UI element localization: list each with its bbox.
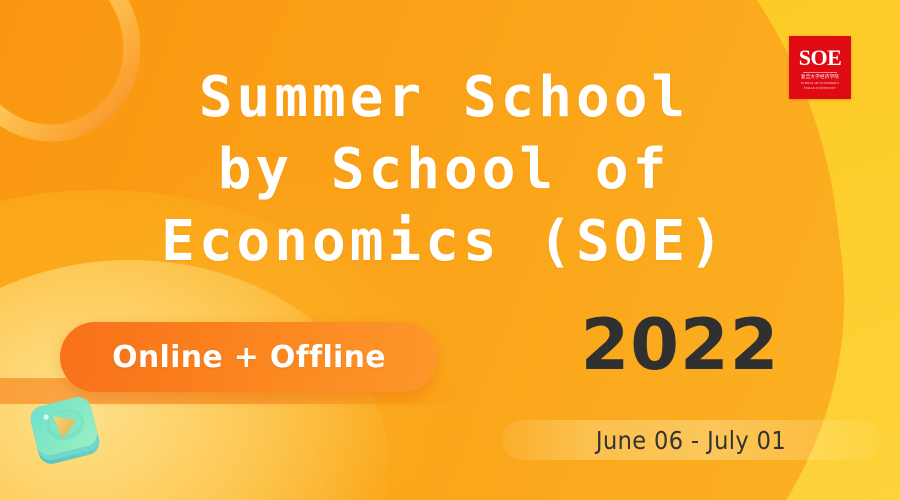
play-cube-icon <box>26 392 104 470</box>
date-range-label: June 06 - July 01 <box>502 420 880 460</box>
format-badge: Online + Offline <box>60 322 438 392</box>
summer-school-banner: SOE 复旦大学经济学院 SCHOOL OF ECONOMICS FUDAN U… <box>0 0 900 500</box>
headline-line-1: Summer School <box>0 62 888 134</box>
headline-line-3: Economics (SOE) <box>0 206 888 278</box>
format-badge-label: Online + Offline <box>112 340 386 375</box>
play-icon <box>26 392 104 470</box>
headline-line-2: by School of <box>0 134 888 206</box>
year-label: 2022 <box>560 306 800 384</box>
headline: Summer School by School of Economics (SO… <box>0 62 900 278</box>
